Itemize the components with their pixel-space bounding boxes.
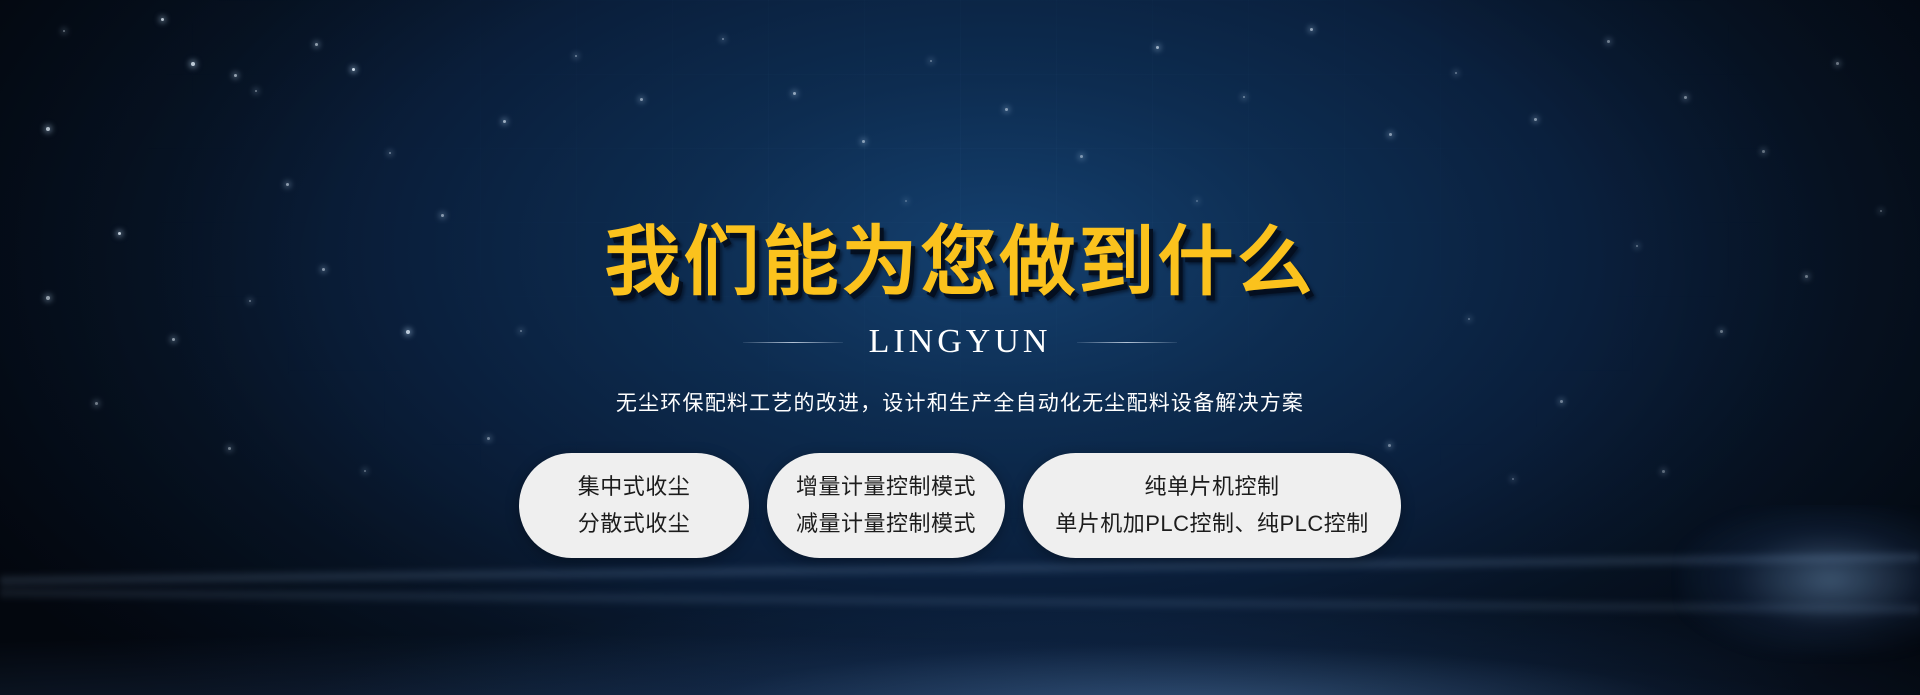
brand-subtitle-row: LINGYUN: [743, 323, 1178, 361]
card-line: 纯单片机控制: [1144, 476, 1279, 498]
brand-name-english: LINGYUN: [869, 323, 1052, 361]
card-line: 单片机加PLC控制、纯PLC控制: [1055, 513, 1369, 535]
feature-card-dust-collection[interactable]: 集中式收尘 分散式收尘: [519, 453, 749, 558]
decorative-line-left: [743, 342, 843, 343]
feature-card-control-system[interactable]: 纯单片机控制 单片机加PLC控制、纯PLC控制: [1023, 453, 1401, 558]
card-line: 集中式收尘: [578, 476, 691, 498]
feature-card-metering-mode[interactable]: 增量计量控制模式 减量计量控制模式: [767, 453, 1005, 558]
card-line: 增量计量控制模式: [796, 476, 976, 498]
decorative-line-right: [1077, 342, 1177, 343]
tagline-text: 无尘环保配料工艺的改进，设计和生产全自动化无尘配料设备解决方案: [616, 387, 1304, 417]
hero-banner: 我们能为您做到什么 LINGYUN 无尘环保配料工艺的改进，设计和生产全自动化无…: [0, 0, 1920, 695]
card-line: 减量计量控制模式: [796, 513, 976, 535]
page-title: 我们能为您做到什么: [605, 225, 1316, 301]
card-line: 分散式收尘: [578, 513, 691, 535]
banner-content: 我们能为您做到什么 LINGYUN 无尘环保配料工艺的改进，设计和生产全自动化无…: [0, 0, 1920, 695]
feature-card-list: 集中式收尘 分散式收尘 增量计量控制模式 减量计量控制模式 纯单片机控制 单片机…: [519, 453, 1401, 558]
